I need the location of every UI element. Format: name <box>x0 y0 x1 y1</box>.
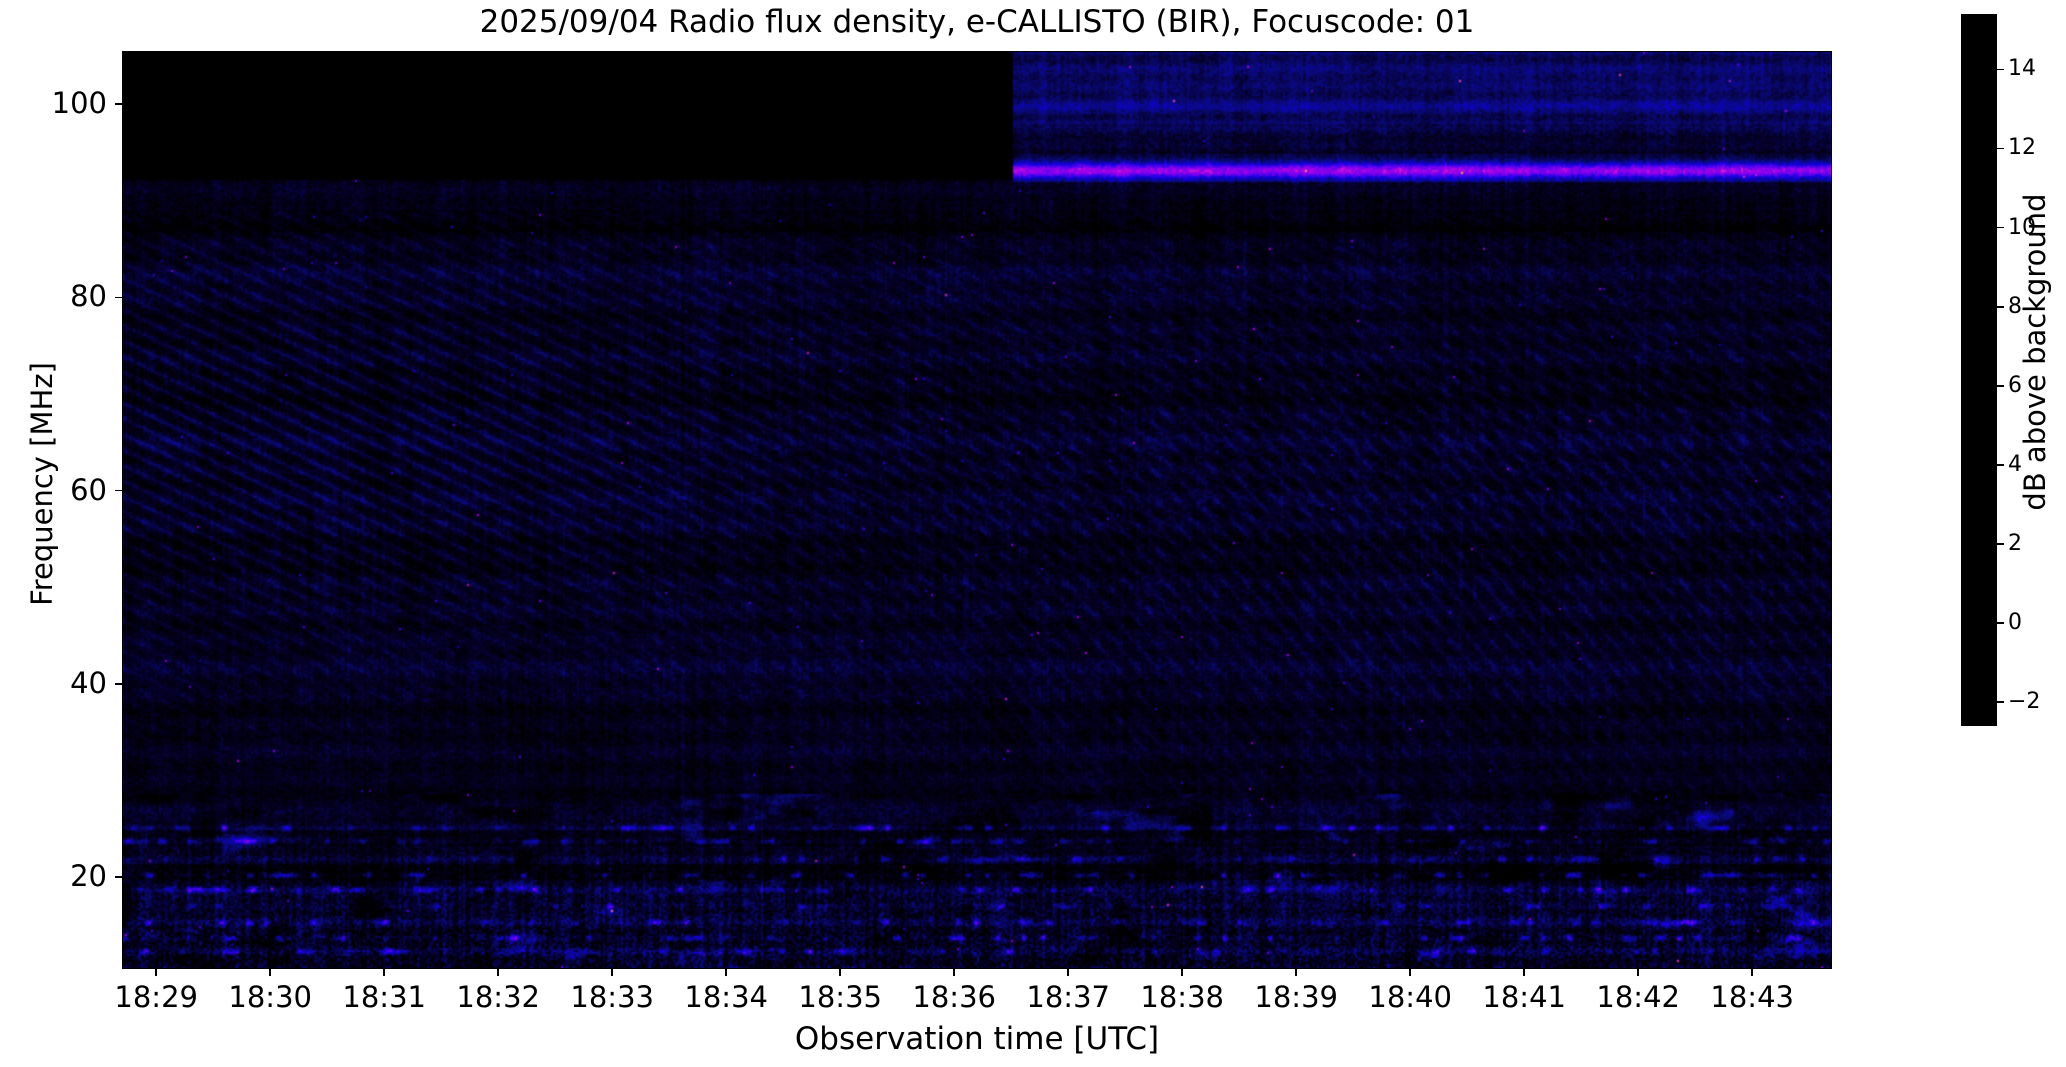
x-tick-mark <box>725 969 727 976</box>
x-tick-label: 18:42 <box>1578 980 1698 1014</box>
spectrogram-figure: 2025/09/04 Radio flux density, e-CALLIST… <box>0 0 2066 1067</box>
colorbar-tick-mark <box>1997 543 2004 545</box>
colorbar-label: dB above background <box>2018 142 2052 562</box>
colorbar-tick-mark <box>1997 306 2004 308</box>
x-tick-label: 18:41 <box>1464 980 1584 1014</box>
x-axis-label: Observation time [UTC] <box>122 1020 1832 1058</box>
x-tick-label: 18:31 <box>324 980 444 1014</box>
colorbar-tick-mark <box>1997 148 2004 150</box>
x-tick-mark <box>155 969 157 976</box>
y-tick-mark <box>115 297 122 299</box>
x-tick-label: 18:37 <box>1008 980 1128 1014</box>
spectrogram-axes[interactable] <box>122 51 1832 969</box>
x-tick-mark <box>383 969 385 976</box>
x-tick-mark <box>1409 969 1411 976</box>
x-tick-label: 18:30 <box>210 980 330 1014</box>
y-tick-label: 100 <box>0 88 107 118</box>
colorbar-tick-mark <box>1997 701 2004 703</box>
x-tick-label: 18:40 <box>1350 980 1470 1014</box>
x-tick-label: 18:32 <box>438 980 558 1014</box>
colorbar-tick-label: 14 <box>2008 57 2036 81</box>
y-tick-label: 80 <box>0 281 107 311</box>
x-tick-mark <box>1067 969 1069 976</box>
x-tick-mark <box>1181 969 1183 976</box>
colorbar-tick-label: −2 <box>2008 690 2040 714</box>
y-tick-mark <box>115 683 122 685</box>
page-title: 2025/09/04 Radio flux density, e-CALLIST… <box>122 2 1832 42</box>
colorbar-gradient <box>1961 14 1997 726</box>
y-tick-label: 20 <box>0 861 107 891</box>
y-tick-label: 40 <box>0 668 107 698</box>
y-tick-label: 60 <box>0 475 107 505</box>
x-tick-label: 18:39 <box>1236 980 1356 1014</box>
y-tick-mark <box>115 490 122 492</box>
x-tick-mark <box>953 969 955 976</box>
colorbar-tick-label: 0 <box>2008 611 2022 635</box>
x-tick-label: 18:35 <box>780 980 900 1014</box>
colorbar-tick-mark <box>1997 227 2004 229</box>
x-tick-mark <box>1637 969 1639 976</box>
colorbar[interactable]: −202468101214 dB above background <box>1961 14 1997 726</box>
x-tick-label: 18:38 <box>1122 980 1242 1014</box>
colorbar-tick-mark <box>1997 622 2004 624</box>
x-tick-mark <box>839 969 841 976</box>
x-tick-label: 18:43 <box>1692 980 1812 1014</box>
x-tick-label: 18:34 <box>666 980 786 1014</box>
y-tick-mark <box>115 103 122 105</box>
y-tick-mark <box>115 876 122 878</box>
colorbar-tick-mark <box>1997 69 2004 71</box>
colorbar-tick-mark <box>1997 385 2004 387</box>
x-tick-mark <box>269 969 271 976</box>
colorbar-tick-mark <box>1997 464 2004 466</box>
x-tick-mark <box>1523 969 1525 976</box>
spectrogram-image <box>123 52 1831 968</box>
x-tick-mark <box>497 969 499 976</box>
x-tick-mark <box>1295 969 1297 976</box>
x-tick-label: 18:33 <box>552 980 672 1014</box>
y-axis-label: Frequency [MHz] <box>26 174 58 794</box>
x-tick-label: 18:36 <box>894 980 1014 1014</box>
x-tick-label: 18:29 <box>96 980 216 1014</box>
x-tick-mark <box>611 969 613 976</box>
x-tick-mark <box>1751 969 1753 976</box>
